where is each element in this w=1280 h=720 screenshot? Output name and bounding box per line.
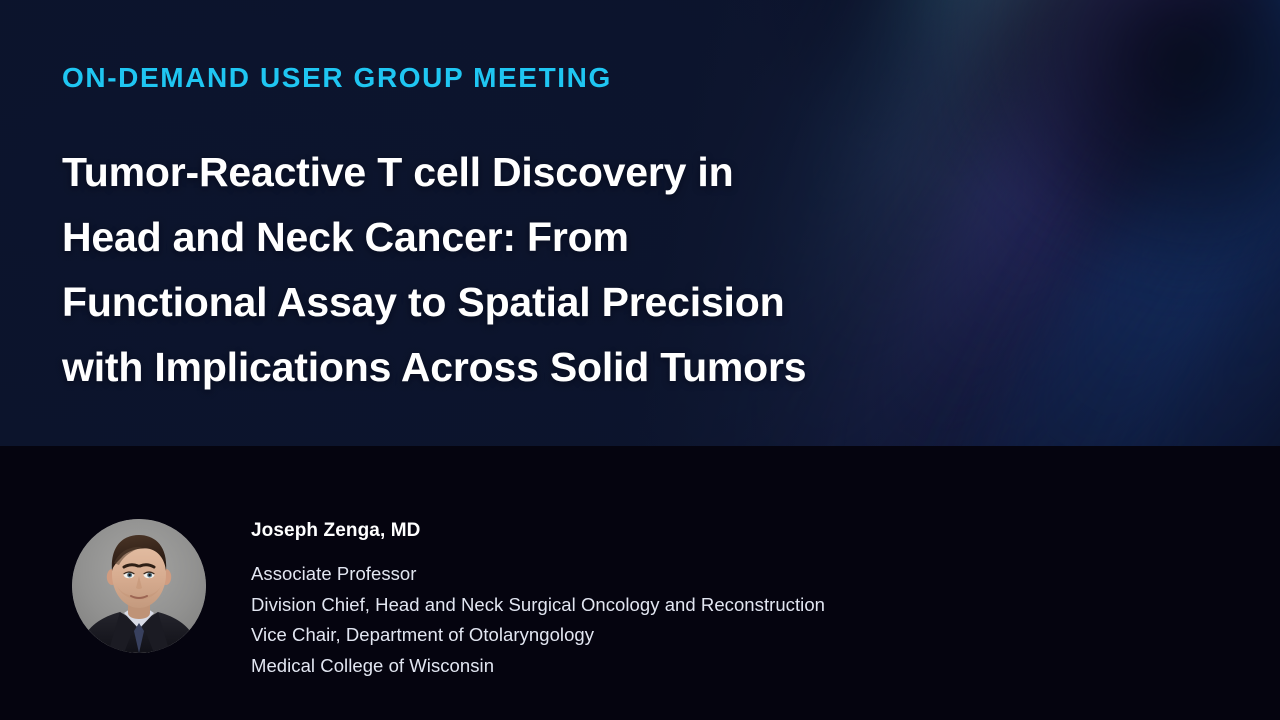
speaker-credential-4: Medical College of Wisconsin xyxy=(251,651,1151,682)
speaker-credential-2: Division Chief, Head and Neck Surgical O… xyxy=(251,590,1151,621)
speaker-name: Joseph Zenga, MD xyxy=(251,519,1151,543)
eyebrow-label: ON-DEMAND USER GROUP MEETING xyxy=(62,62,612,94)
speaker-credential-1: Associate Professor xyxy=(251,559,1151,590)
hero-banner: ON-DEMAND USER GROUP MEETING Tumor-React… xyxy=(0,0,1280,446)
speaker-credential-3: Vice Chair, Department of Otolaryngology xyxy=(251,620,1151,651)
title-line-2: Head and Neck Cancer: From xyxy=(62,205,962,270)
speaker-details: Joseph Zenga, MD Associate Professor Div… xyxy=(251,519,1151,681)
slide-title: Tumor-Reactive T cell Discovery in Head … xyxy=(62,140,962,400)
title-line-4: with Implications Across Solid Tumors xyxy=(62,335,962,400)
title-line-1: Tumor-Reactive T cell Discovery in xyxy=(62,140,962,205)
speaker-panel: Joseph Zenga, MD Associate Professor Div… xyxy=(0,446,1280,720)
title-line-3: Functional Assay to Spatial Precision xyxy=(62,270,962,335)
avatar xyxy=(72,519,206,653)
headshot-illustration xyxy=(72,519,206,653)
presentation-slide: ON-DEMAND USER GROUP MEETING Tumor-React… xyxy=(0,0,1280,720)
